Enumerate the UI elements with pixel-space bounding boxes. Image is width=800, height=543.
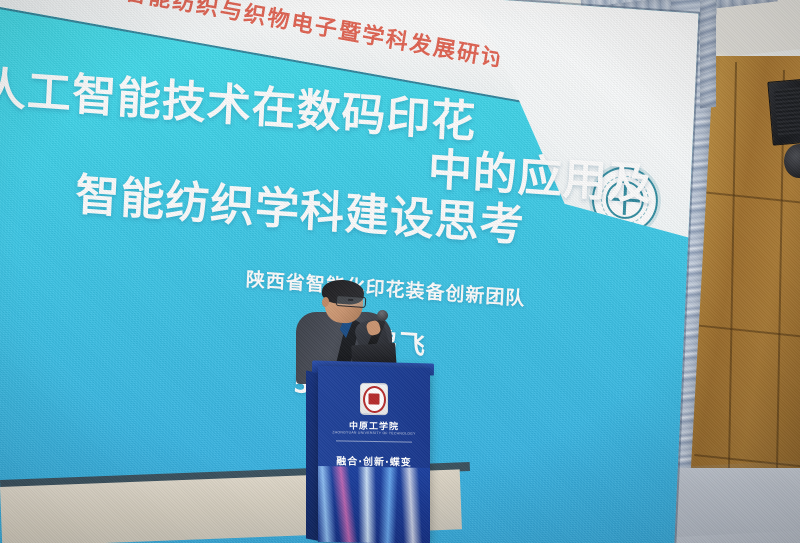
lectern-podium: 中原工学院 ZHONGYUAN UNIVERSITY OF TECHNOLOGY… (318, 366, 430, 543)
podium-light-rays-graphic: 织就智能未来 (318, 466, 430, 543)
podium-university-name-en: ZHONGYUAN UNIVERSITY OF TECHNOLOGY (332, 430, 415, 435)
podium-divider (336, 440, 412, 442)
screenshot-canvas: 年智能纺织与织物电子暨学科发展研讨会 人工智能技术在数码印花 中的应用及 智能纺… (0, 0, 800, 543)
glasses-icon (336, 295, 367, 308)
marble-column (700, 0, 716, 109)
ceiling-speaker-icon (767, 78, 800, 145)
university-seal-icon (360, 383, 388, 415)
